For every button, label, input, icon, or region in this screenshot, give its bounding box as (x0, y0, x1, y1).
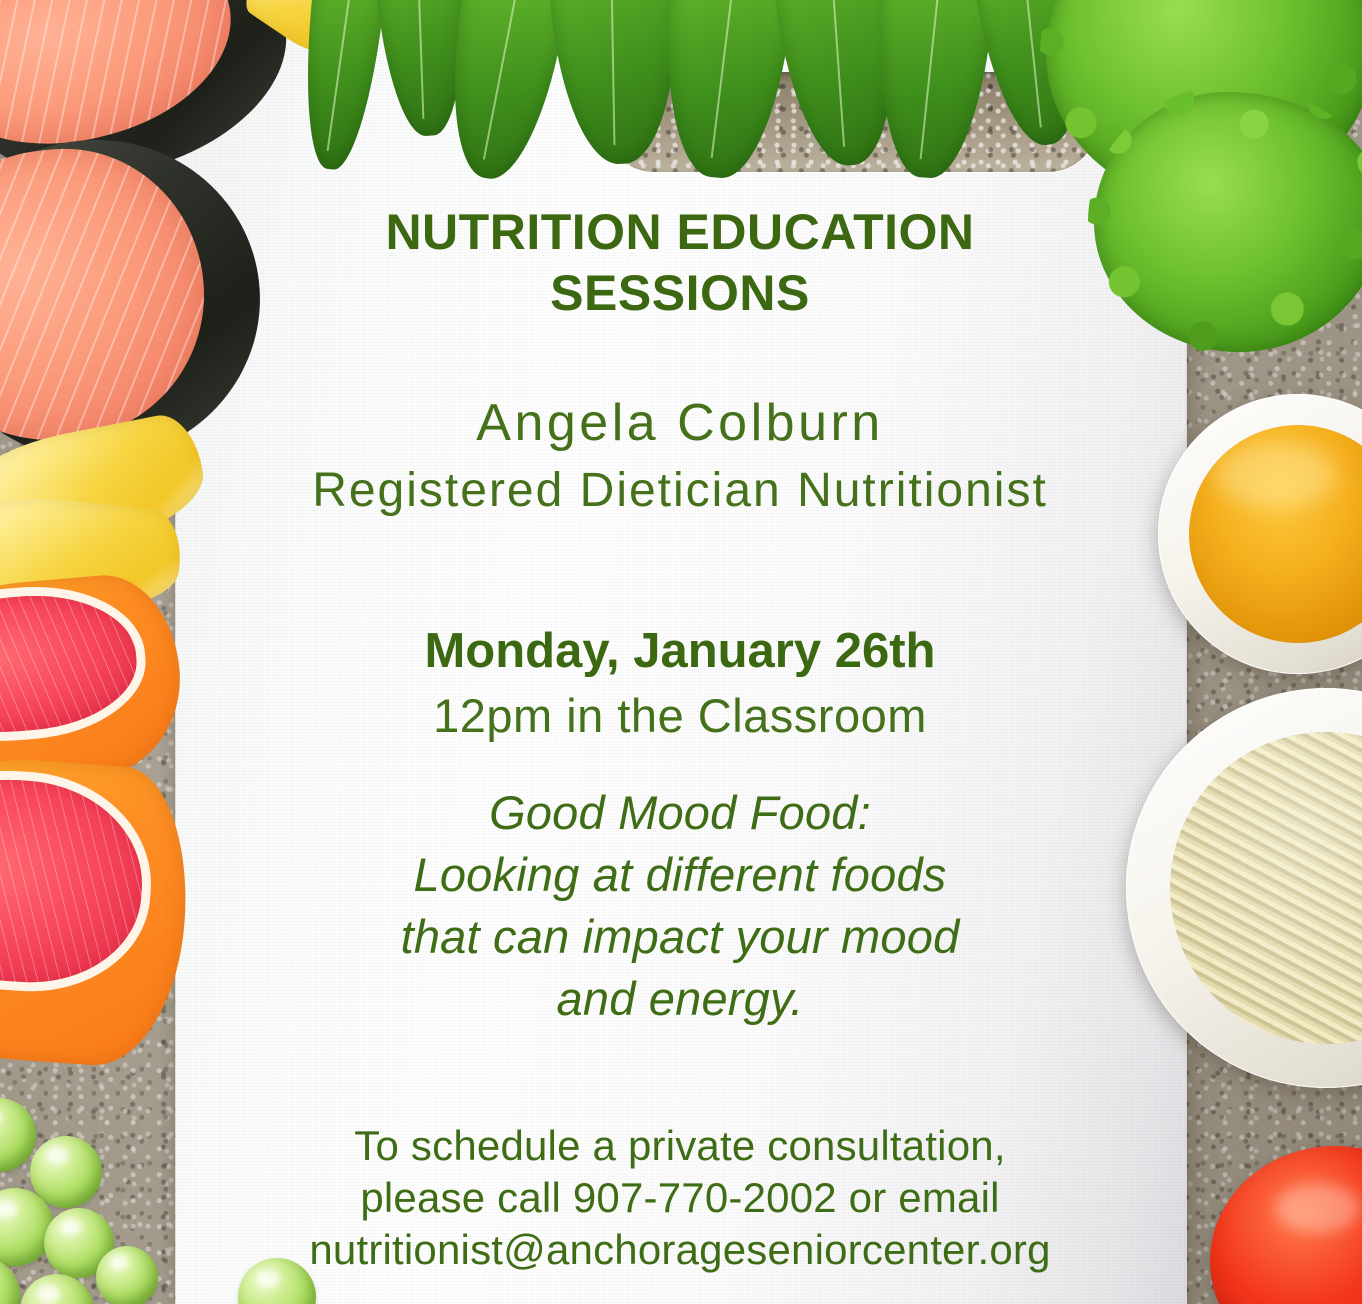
contact-block: To schedule a private consultation, plea… (210, 1120, 1150, 1276)
topic-line-3: that can impact your mood (230, 906, 1130, 968)
salmon-steak-icon (0, 135, 218, 455)
nutrition-flyer: NUTRITION EDUCATION SESSIONS Angela Colb… (0, 0, 1362, 1304)
page-title: NUTRITION EDUCATION SESSIONS (190, 202, 1170, 324)
contact-email: nutritionist@anchorageseniorcenter.org (210, 1224, 1150, 1276)
topic-line-1: Good Mood Food: (230, 782, 1130, 844)
bowl-interior (1189, 425, 1362, 643)
topic-line-4: and energy. (230, 968, 1130, 1030)
presenter-name: Angela Colburn (190, 393, 1170, 454)
title-line-1: NUTRITION EDUCATION (190, 202, 1170, 263)
event-time-location: 12pm in the Classroom (190, 688, 1170, 744)
event-date: Monday, January 26th (190, 622, 1170, 681)
wild-rice-blend (1170, 732, 1362, 1044)
bowl-interior (1170, 732, 1362, 1044)
grape (96, 1246, 158, 1304)
grape (20, 1274, 94, 1304)
grapefruit-flesh (0, 771, 149, 990)
contact-line-2: please call 907-770-2002 or email (210, 1172, 1150, 1224)
topic-line-2: Looking at different foods (230, 844, 1130, 906)
contact-line-1: To schedule a private consultation, (210, 1120, 1150, 1172)
olive-oil (1189, 425, 1362, 643)
flyer-text-content: NUTRITION EDUCATION SESSIONS Angela Colb… (190, 0, 1170, 1304)
grapefruit-flesh (0, 587, 142, 742)
session-topic: Good Mood Food: Looking at different foo… (230, 782, 1130, 1030)
presenter-role: Registered Dietician Nutritionist (190, 462, 1170, 520)
title-line-2: SESSIONS (190, 263, 1170, 324)
